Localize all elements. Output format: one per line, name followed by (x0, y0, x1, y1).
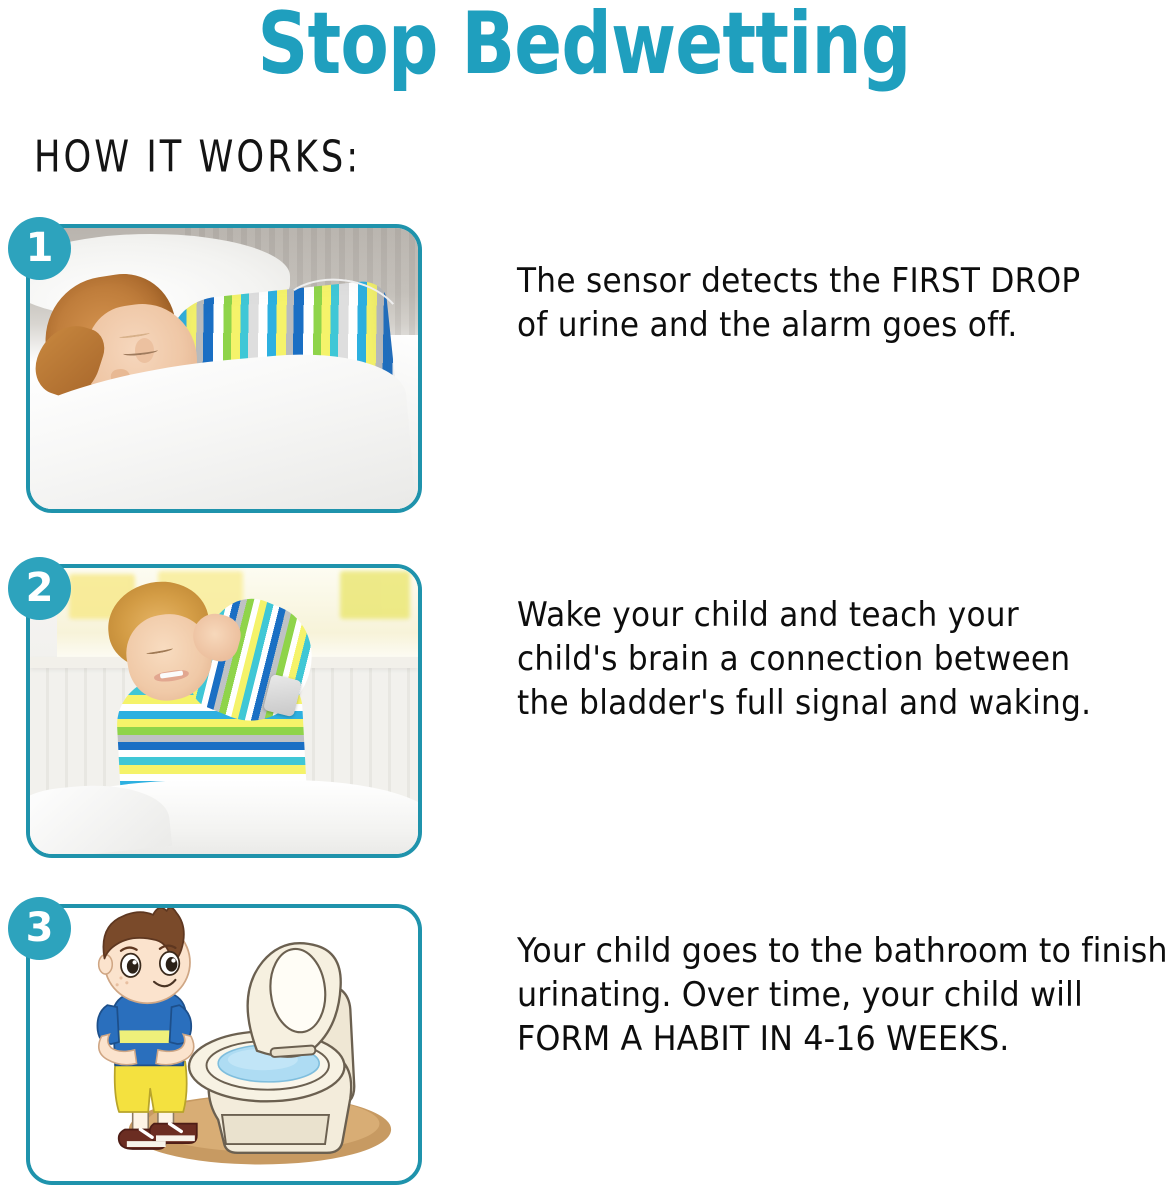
sleeping-child-photo (30, 228, 418, 509)
section-heading: HOW IT WORKS: (34, 131, 361, 182)
step-1-text: The sensor detects the FIRST DROP of uri… (517, 259, 1120, 347)
step-3-image-frame (26, 904, 422, 1185)
bathroom-illustration (30, 908, 418, 1181)
step-row-2: 2 Wake your child and teach your child's… (0, 557, 1168, 862)
waking-child-photo (30, 568, 418, 854)
step-3-text: Your child goes to the bathroom to finis… (517, 929, 1168, 1061)
step-1-image-frame (26, 224, 422, 513)
step-badge-2: 2 (8, 557, 71, 620)
step-row-1: 1 The sensor detects the FIRST DROP of u… (0, 217, 1168, 517)
step-2-text: Wake your child and teach your child's b… (517, 593, 1120, 725)
step-badge-1: 1 (8, 217, 71, 280)
step-row-3: 3 Your child goes to the bathroom to fin… (0, 897, 1168, 1189)
poster: Stop Bedwetting HOW IT WORKS: (0, 0, 1168, 1200)
step-2-image-frame (26, 564, 422, 858)
step-badge-3: 3 (8, 897, 71, 960)
boy-toilet-drawing (30, 908, 418, 1181)
page-title: Stop Bedwetting (105, 0, 1063, 92)
